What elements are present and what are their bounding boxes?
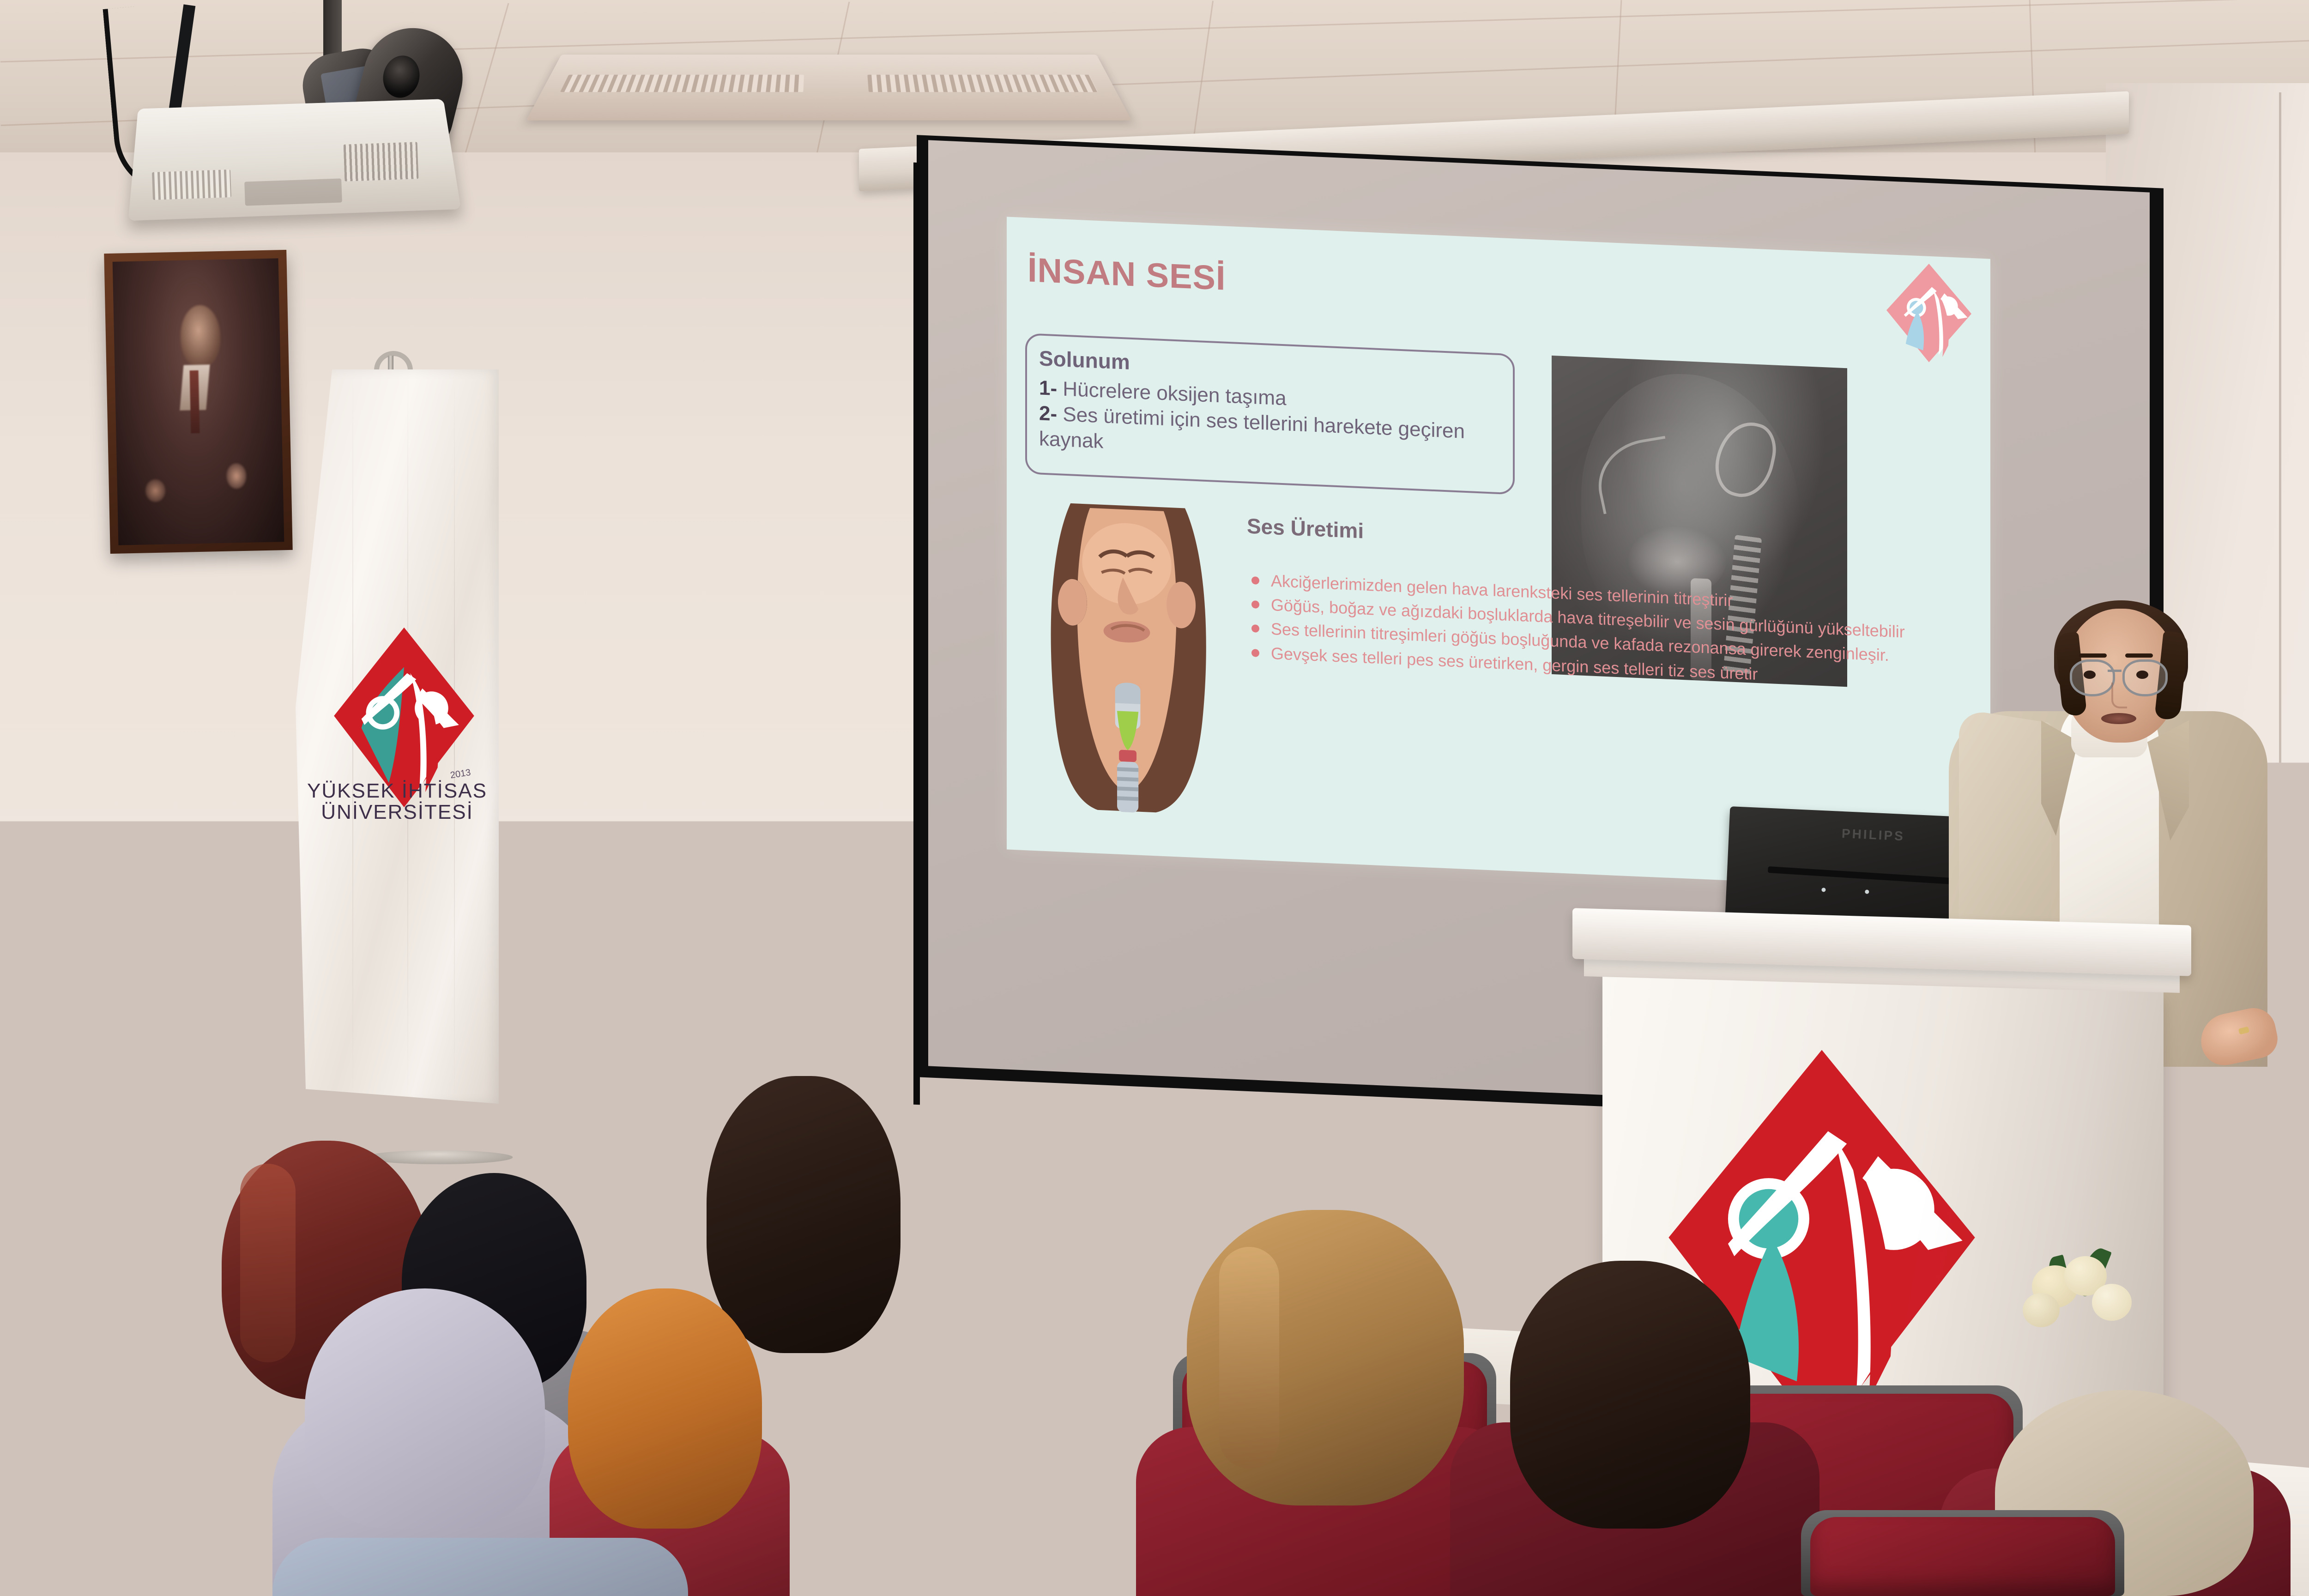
seat-front-3[interactable] [1810,1517,2115,1596]
seat-front-2[interactable] [831,1499,1108,1596]
slide-title: İNSAN SESİ [1028,250,1226,297]
projector-port-panel [244,178,342,206]
ses-uretimi-heading: Ses Üretimi [1247,514,1364,544]
solunum-item-2-number: 2- [1039,402,1057,425]
portrait-hand-left [145,479,166,502]
presenter-eyebrow-left [2079,653,2107,658]
presenter-mouth [2101,713,2136,724]
presenter-eye-left [2084,671,2096,679]
slide-bullet-list: Akciğerlerimizden gelen hava larenksteki… [1247,569,1967,696]
monitor-brand-label: PHILIPS [1841,826,1905,844]
presenter-nose [2111,683,2127,708]
presenter-eye-right [2136,671,2148,679]
projection-screen-left-edge [913,163,920,1105]
portrait-head [180,305,221,368]
presentation-scene: 2013 YÜKSEK İHTİSAS ÜNİVERSİTESİ İNSAN S… [0,0,2309,1596]
secondary-flower-arrangement [2023,1242,2217,1395]
monitor-led-2 [1865,890,1869,894]
solunum-item-1-number: 1- [1039,376,1057,400]
monitor-led-1 [1821,888,1825,892]
projector-vent-grill [152,169,231,200]
flag-institution-name: YÜKSEK İHTİSAS ÜNİVERSİTESİ [305,780,490,823]
portrait-image [113,258,284,545]
ataturk-portrait [104,250,293,554]
presenter-eyebrow-right [2125,653,2153,658]
solunum-info-box: Solunum 1- Hücrelere oksijen taşıma 2- S… [1025,333,1515,495]
seat-front-1[interactable] [0,1475,212,1596]
presenter-eyeglass-bridge [2108,670,2122,672]
slide-logo-icon [1880,260,1977,370]
presentation-slide: İNSAN SESİ Solunum 1- Hücrelere oksijen … [1007,217,1990,891]
monitor-stand-slot [1767,866,1975,885]
flag-name-line2: ÜNİVERSİTESİ [305,802,490,823]
flag-name-line1: YÜKSEK İHTİSAS [305,780,490,802]
ceiling-cassette-air-conditioner [526,54,1132,120]
projector-vent-grill-secondary [344,142,419,181]
portrait-hand-right [226,463,247,489]
neck-larynx-illustration [1030,490,1224,822]
portrait-tie [189,370,200,433]
